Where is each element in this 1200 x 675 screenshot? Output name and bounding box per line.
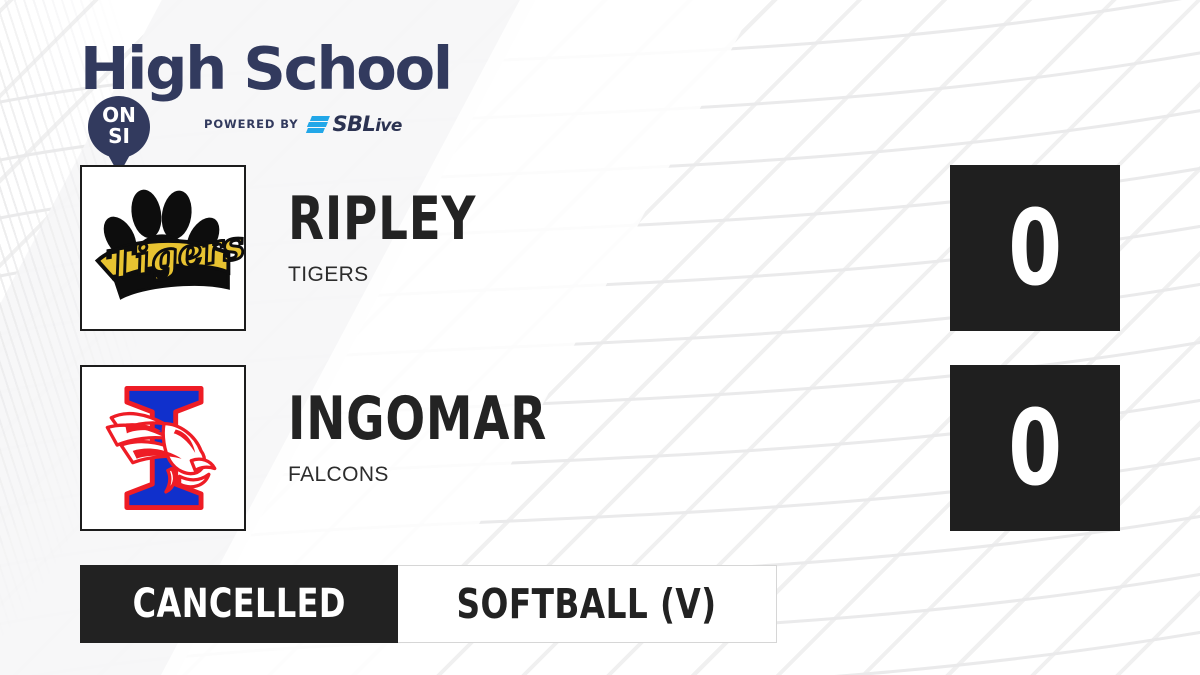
- team-mascot: FALCONS: [288, 463, 928, 487]
- sport-label: SOFTBALL (V): [457, 584, 717, 625]
- sport-label-box: SOFTBALL (V): [398, 565, 776, 643]
- team-row: Tigers RIPLEY TIGERS 0: [80, 165, 1120, 335]
- team-row: INGOMAR FALCONS 0: [80, 365, 1120, 535]
- team-mascot: TIGERS: [288, 263, 928, 287]
- sblive-s-mark-icon: [307, 115, 329, 134]
- status-badge-label: CANCELLED: [133, 584, 346, 624]
- on-si-pin-icon: ONSI: [88, 96, 150, 170]
- powered-by-label: POWERED BY: [204, 117, 298, 131]
- ingomar-falcon-logo-icon: [82, 367, 244, 529]
- sblive-logo: SBLive: [307, 112, 401, 136]
- team-name: RIPLEY: [288, 189, 787, 249]
- tigers-paw-logo-icon: Tigers: [82, 167, 244, 329]
- team-name: INGOMAR: [288, 389, 787, 449]
- sblive-word-suffix: ive: [375, 116, 402, 136]
- scoreboard-graphic: High School ONSI POWERED BY SBLive: [0, 0, 1200, 675]
- game-status-bar: CANCELLED SOFTBALL (V): [80, 565, 777, 643]
- team-info-ripley: RIPLEY TIGERS: [288, 189, 928, 287]
- pin-label: ONSI: [88, 105, 150, 147]
- page-title: High School: [80, 38, 451, 100]
- sblive-word-main: SBL: [332, 112, 375, 136]
- score-value: 0: [1008, 196, 1062, 300]
- status-badge: CANCELLED: [80, 565, 398, 643]
- team-logo-ingomar: [80, 365, 246, 531]
- team-score-ripley: 0: [950, 165, 1120, 331]
- team-logo-ripley: Tigers: [80, 165, 246, 331]
- team-info-ingomar: INGOMAR FALCONS: [288, 389, 928, 487]
- score-value: 0: [1008, 396, 1062, 500]
- pin-label-si: SI: [108, 124, 130, 148]
- powered-by-block: POWERED BY SBLive: [204, 112, 402, 136]
- sblive-wordmark: SBLive: [332, 112, 401, 136]
- team-score-ingomar: 0: [950, 365, 1120, 531]
- brand-header: High School ONSI POWERED BY SBLive: [80, 38, 510, 130]
